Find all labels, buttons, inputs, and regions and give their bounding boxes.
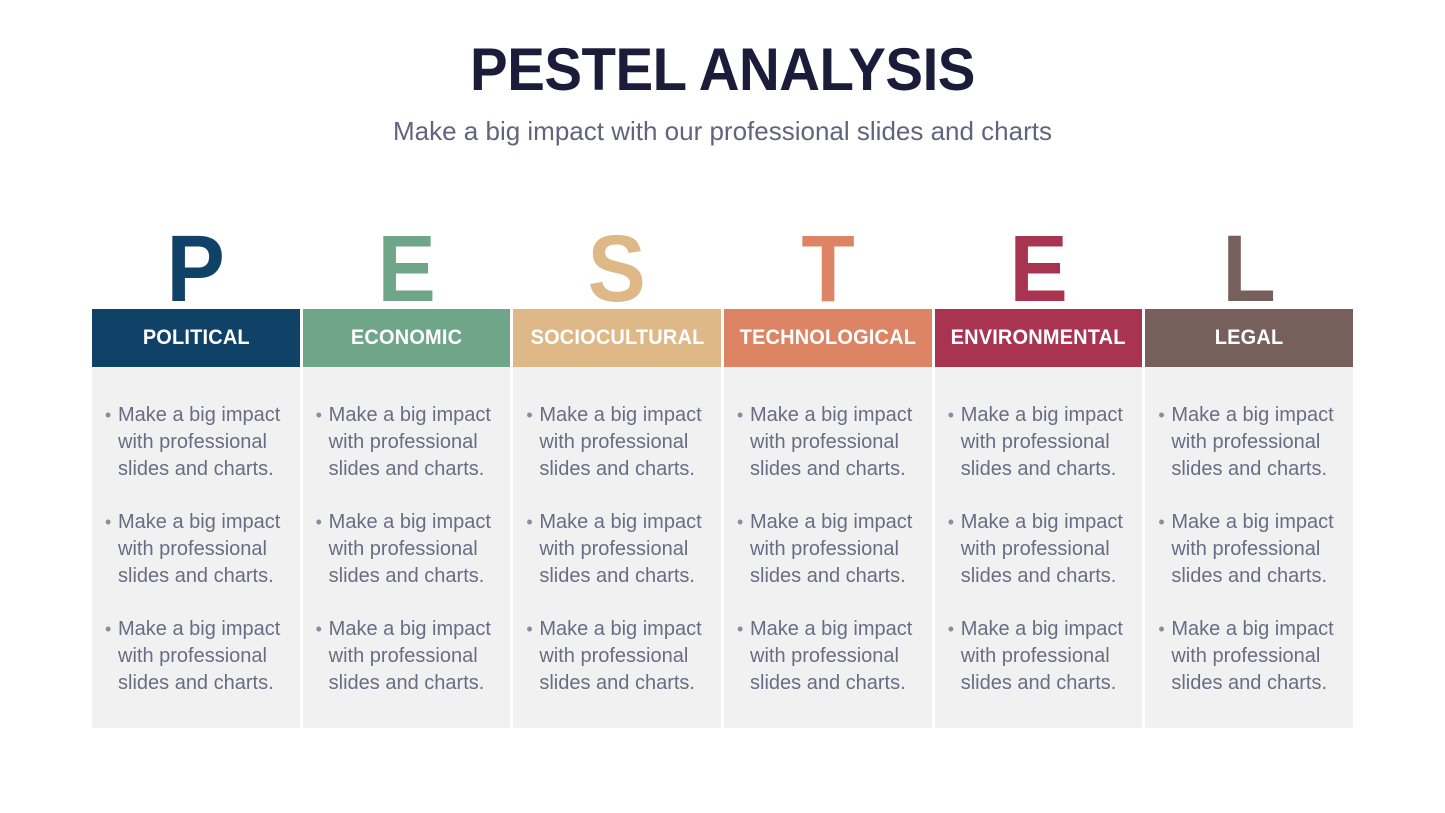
- bullet-text: Make a big impact with professional slid…: [750, 402, 916, 483]
- bullet-text: Make a big impact with professional slid…: [961, 616, 1127, 697]
- bullet-text: Make a big impact with professional slid…: [750, 509, 916, 590]
- bullet-text: Make a big impact with professional slid…: [1171, 402, 1337, 483]
- pestel-column-economic: EECONOMIC•Make a big impact with profess…: [303, 196, 511, 728]
- bullet-text: Make a big impact with professional slid…: [1171, 509, 1337, 590]
- bullet-dot-icon: •: [945, 402, 961, 429]
- bullet-dot-icon: •: [102, 616, 118, 643]
- bullet-list-technological: •Make a big impact with professional sli…: [734, 402, 916, 697]
- bullet-text: Make a big impact with professional slid…: [329, 402, 495, 483]
- bullet-list-environmental: •Make a big impact with professional sli…: [945, 402, 1127, 697]
- list-item: •Make a big impact with professional sli…: [734, 509, 916, 590]
- bullet-dot-icon: •: [523, 402, 539, 429]
- bullet-text: Make a big impact with professional slid…: [539, 402, 705, 483]
- bullet-list-political: •Make a big impact with professional sli…: [102, 402, 284, 697]
- pestel-column-legal: LLEGAL•Make a big impact with profession…: [1145, 196, 1353, 728]
- category-label-technological: TECHNOLOGICAL: [740, 326, 916, 350]
- bullet-dot-icon: •: [1155, 509, 1171, 536]
- pestel-column-political: PPOLITICAL•Make a big impact with profes…: [92, 196, 300, 728]
- list-item: •Make a big impact with professional sli…: [523, 509, 705, 590]
- page-subtitle: Make a big impact with our professional …: [0, 117, 1445, 146]
- bullet-text: Make a big impact with professional slid…: [961, 402, 1127, 483]
- bullet-dot-icon: •: [945, 509, 961, 536]
- pestel-analysis-slide: { "header": { "title": "PESTEL ANALYSIS"…: [0, 0, 1445, 813]
- list-item: •Make a big impact with professional sli…: [734, 616, 916, 697]
- bullet-dot-icon: •: [313, 509, 329, 536]
- bullet-dot-icon: •: [313, 402, 329, 429]
- bullet-dot-icon: •: [1155, 402, 1171, 429]
- category-label-sociocultural: SOCIOCULTURAL: [530, 326, 704, 350]
- bullet-text: Make a big impact with professional slid…: [1171, 616, 1337, 697]
- pestel-letter-political: P: [167, 232, 225, 306]
- bullet-text: Make a big impact with professional slid…: [329, 616, 495, 697]
- list-item: •Make a big impact with professional sli…: [313, 616, 495, 697]
- list-item: •Make a big impact with professional sli…: [102, 616, 284, 697]
- bullet-dot-icon: •: [313, 616, 329, 643]
- letter-zone-technological: T: [724, 196, 932, 309]
- list-item: •Make a big impact with professional sli…: [734, 402, 916, 483]
- category-body-sociocultural: •Make a big impact with professional sli…: [513, 367, 721, 728]
- bullet-text: Make a big impact with professional slid…: [961, 509, 1127, 590]
- pestel-letter-economic: E: [377, 232, 435, 306]
- bullet-list-sociocultural: •Make a big impact with professional sli…: [523, 402, 705, 697]
- pestel-column-technological: TTECHNOLOGICAL•Make a big impact with pr…: [724, 196, 932, 728]
- bullet-text: Make a big impact with professional slid…: [118, 509, 284, 590]
- list-item: •Make a big impact with professional sli…: [102, 402, 284, 483]
- letter-zone-sociocultural: S: [513, 196, 721, 309]
- pestel-matrix: PPOLITICAL•Make a big impact with profes…: [92, 196, 1353, 728]
- category-label-economic: ECONOMIC: [351, 326, 462, 350]
- letter-zone-environmental: E: [935, 196, 1143, 309]
- bullet-dot-icon: •: [734, 509, 750, 536]
- pestel-letter-legal: L: [1222, 232, 1275, 306]
- pestel-letter-technological: T: [801, 232, 854, 306]
- category-body-technological: •Make a big impact with professional sli…: [724, 367, 932, 728]
- category-label-environmental: ENVIRONMENTAL: [951, 326, 1126, 350]
- list-item: •Make a big impact with professional sli…: [945, 616, 1127, 697]
- category-label-political: POLITICAL: [142, 326, 249, 350]
- bullet-text: Make a big impact with professional slid…: [750, 616, 916, 697]
- bullet-text: Make a big impact with professional slid…: [329, 509, 495, 590]
- list-item: •Make a big impact with professional sli…: [102, 509, 284, 590]
- category-body-economic: •Make a big impact with professional sli…: [303, 367, 511, 728]
- letter-zone-legal: L: [1145, 196, 1353, 309]
- list-item: •Make a big impact with professional sli…: [1155, 616, 1337, 697]
- slide-header: PESTEL ANALYSIS Make a big impact with o…: [0, 0, 1445, 146]
- bullet-text: Make a big impact with professional slid…: [539, 616, 705, 697]
- bullet-dot-icon: •: [734, 616, 750, 643]
- bullet-dot-icon: •: [523, 509, 539, 536]
- letter-zone-political: P: [92, 196, 300, 309]
- bullet-text: Make a big impact with professional slid…: [118, 616, 284, 697]
- bullet-dot-icon: •: [1155, 616, 1171, 643]
- list-item: •Make a big impact with professional sli…: [945, 402, 1127, 483]
- category-label-legal: LEGAL: [1215, 326, 1284, 350]
- bullet-list-economic: •Make a big impact with professional sli…: [313, 402, 495, 697]
- bullet-dot-icon: •: [734, 402, 750, 429]
- list-item: •Make a big impact with professional sli…: [523, 402, 705, 483]
- pestel-column-environmental: EENVIRONMENTAL•Make a big impact with pr…: [935, 196, 1143, 728]
- letter-zone-economic: E: [303, 196, 511, 309]
- list-item: •Make a big impact with professional sli…: [313, 402, 495, 483]
- bullet-dot-icon: •: [523, 616, 539, 643]
- list-item: •Make a big impact with professional sli…: [945, 509, 1127, 590]
- bullet-dot-icon: •: [102, 509, 118, 536]
- pestel-letter-sociocultural: S: [588, 232, 646, 306]
- bullet-dot-icon: •: [945, 616, 961, 643]
- category-body-environmental: •Make a big impact with professional sli…: [935, 367, 1143, 728]
- category-body-political: •Make a big impact with professional sli…: [92, 367, 300, 728]
- bullet-text: Make a big impact with professional slid…: [539, 509, 705, 590]
- category-body-legal: •Make a big impact with professional sli…: [1145, 367, 1353, 728]
- bullet-list-legal: •Make a big impact with professional sli…: [1155, 402, 1337, 697]
- list-item: •Make a big impact with professional sli…: [1155, 509, 1337, 590]
- bullet-text: Make a big impact with professional slid…: [118, 402, 284, 483]
- pestel-column-sociocultural: SSOCIOCULTURAL•Make a big impact with pr…: [513, 196, 721, 728]
- list-item: •Make a big impact with professional sli…: [523, 616, 705, 697]
- page-title: PESTEL ANALYSIS: [43, 40, 1401, 100]
- pestel-letter-environmental: E: [1009, 232, 1067, 306]
- bullet-dot-icon: •: [102, 402, 118, 429]
- list-item: •Make a big impact with professional sli…: [313, 509, 495, 590]
- list-item: •Make a big impact with professional sli…: [1155, 402, 1337, 483]
